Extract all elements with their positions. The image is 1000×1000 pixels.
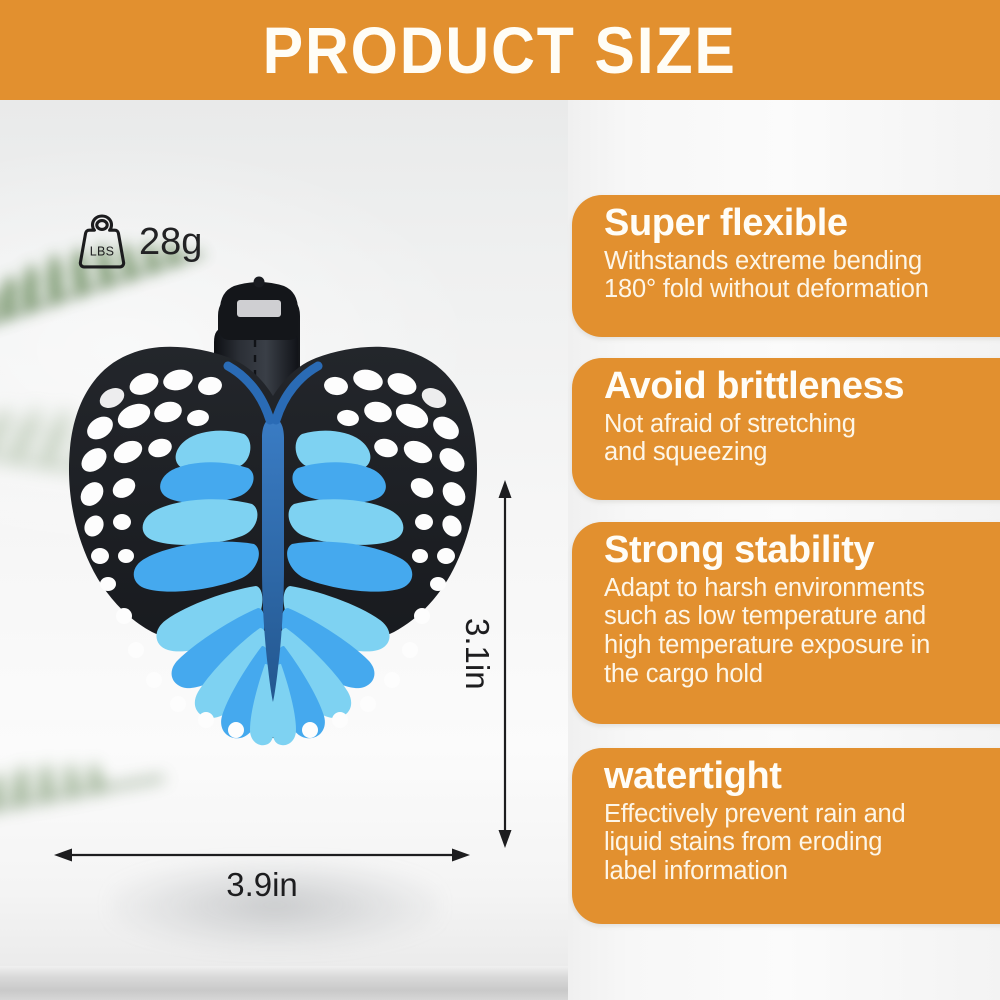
- table-surface-edge: [0, 966, 568, 1000]
- feature-title: watertight: [604, 757, 990, 797]
- feature-body-line: the cargo hold: [604, 660, 990, 689]
- feature-title: Strong stability: [604, 531, 990, 571]
- svg-text:LBS: LBS: [90, 245, 115, 259]
- feature-card-watertight: watertight Effectively prevent rain and …: [572, 748, 1000, 924]
- feature-card-avoid-brittleness: Avoid brittleness Not afraid of stretchi…: [572, 358, 1000, 500]
- feature-body-line: Adapt to harsh environments: [604, 574, 990, 603]
- page-title: PRODUCT SIZE: [263, 17, 737, 83]
- dimension-height: 3.1in: [470, 478, 540, 850]
- dimension-width-label: 3.9in: [52, 866, 472, 904]
- feature-body-line: label information: [604, 857, 990, 886]
- feature-body-line: Not afraid of stretching: [604, 410, 990, 439]
- butterfly-luggage-tag: [48, 268, 498, 858]
- dimension-height-label: 3.1in: [458, 618, 496, 690]
- feature-body-line: Effectively prevent rain and: [604, 800, 990, 829]
- product-size-infographic: PRODUCT SIZE: [0, 0, 1000, 1000]
- feature-body-line: 180° fold without deformation: [604, 275, 990, 304]
- feature-body: Not afraid of stretching and squeezing: [604, 410, 990, 468]
- feature-body-line: and squeezing: [604, 438, 990, 467]
- feature-body-line: high temperature exposure in: [604, 631, 990, 660]
- dimension-width: 3.9in: [52, 842, 472, 912]
- feature-body: Adapt to harsh environments such as low …: [604, 574, 990, 689]
- feature-body-line: such as low temperature and: [604, 602, 990, 631]
- header-banner: PRODUCT SIZE: [0, 0, 1000, 100]
- dimension-arrow-horizontal: [52, 842, 472, 868]
- feature-body: Withstands extreme bending 180° fold wit…: [604, 247, 990, 305]
- feature-body-line: Withstands extreme bending: [604, 247, 990, 276]
- butterfly-tag-illustration: [48, 268, 498, 858]
- weight-value: 28g: [139, 221, 202, 264]
- feature-title: Super flexible: [604, 204, 990, 244]
- weight-lbs-icon: LBS: [76, 212, 128, 272]
- feature-body: Effectively prevent rain and liquid stai…: [604, 800, 990, 886]
- feature-panel: Super flexible Withstands extreme bendin…: [568, 100, 1000, 1000]
- feature-body-line: liquid stains from eroding: [604, 828, 990, 857]
- weight-badge: LBS 28g: [76, 212, 202, 272]
- feature-card-strong-stability: Strong stability Adapt to harsh environm…: [572, 522, 1000, 724]
- feature-title: Avoid brittleness: [604, 367, 990, 407]
- feature-card-super-flexible: Super flexible Withstands extreme bendin…: [572, 195, 1000, 337]
